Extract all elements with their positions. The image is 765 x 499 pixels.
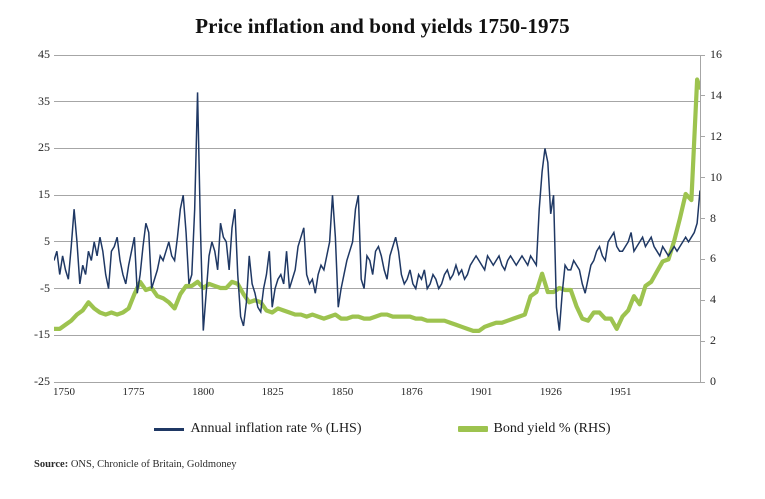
legend-label-inflation: Annual inflation rate % (LHS) <box>190 421 361 437</box>
bond-yield-line <box>54 80 700 331</box>
x-axis-tick-label: 1901 <box>451 386 511 398</box>
x-axis-tick-label: 1926 <box>521 386 581 398</box>
x-axis-tick-label: 1850 <box>312 386 372 398</box>
left-axis-tick-label: 15 <box>6 187 50 202</box>
left-axis-tick-label: -15 <box>6 327 50 342</box>
inflation-line <box>54 92 700 330</box>
green-line-swatch-icon <box>458 426 488 432</box>
x-axis-tick-label: 1800 <box>173 386 233 398</box>
series-lines <box>54 55 700 382</box>
source-text: ONS, Chronicle of Britain, Goldmoney <box>71 459 237 470</box>
right-axis-tick-label: 16 <box>710 47 740 62</box>
navy-line-swatch-icon <box>154 428 184 431</box>
legend-label-bond-yield: Bond yield % (RHS) <box>494 421 611 437</box>
plot-area <box>54 55 700 382</box>
source-prefix: Source: <box>34 459 68 470</box>
right-axis-tick-label: 10 <box>710 170 740 185</box>
left-axis-tick-label: 5 <box>6 234 50 249</box>
right-axis-tick-label: 4 <box>710 292 740 307</box>
x-axis-tick-label: 1825 <box>243 386 303 398</box>
legend-item-inflation[interactable]: Annual inflation rate % (LHS) <box>154 421 361 437</box>
right-axis-tick-label: 6 <box>710 251 740 266</box>
right-axis-tick-label: 0 <box>710 374 740 389</box>
x-axis-tick-label: 1951 <box>590 386 650 398</box>
chart-title: Price inflation and bond yields 1750-197… <box>0 14 765 39</box>
right-axis-tick-label: 12 <box>710 129 740 144</box>
source-note: Source: ONS, Chronicle of Britain, Goldm… <box>34 459 237 470</box>
chart-legend: Annual inflation rate % (LHS) Bond yield… <box>0 421 765 437</box>
left-axis-tick-label: -5 <box>6 281 50 296</box>
right-axis-line <box>700 55 701 383</box>
left-axis-tick-label: 45 <box>6 47 50 62</box>
chart-container: Price inflation and bond yields 1750-197… <box>0 0 765 499</box>
left-axis-tick-label: 25 <box>6 140 50 155</box>
legend-item-bond-yield[interactable]: Bond yield % (RHS) <box>458 421 611 437</box>
x-axis-tick-label: 1750 <box>34 386 94 398</box>
right-axis-tick-label: 14 <box>710 88 740 103</box>
x-axis-tick-label: 1775 <box>104 386 164 398</box>
x-axis-tick-label: 1876 <box>382 386 442 398</box>
right-axis-tick-label: 8 <box>710 211 740 226</box>
x-axis-line <box>54 382 700 383</box>
left-axis-tick-label: 35 <box>6 94 50 109</box>
right-axis-tick-label: 2 <box>710 333 740 348</box>
